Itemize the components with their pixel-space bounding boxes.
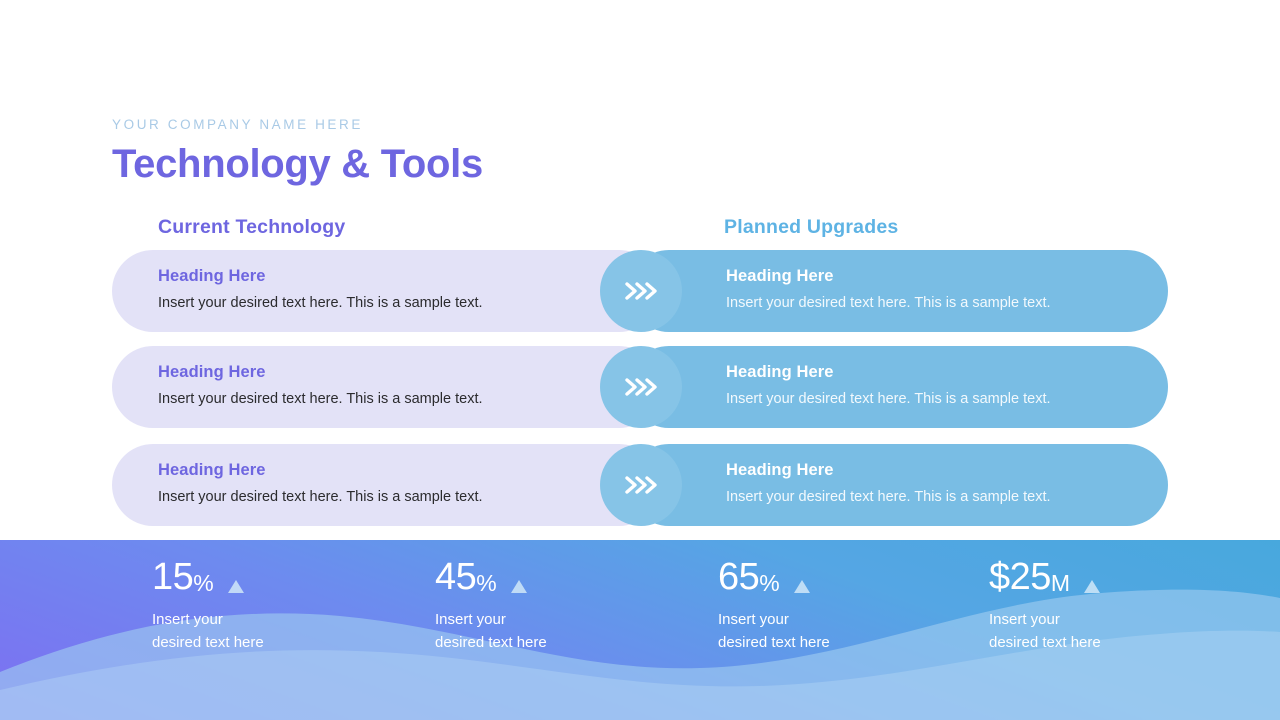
stat-description: Insert your desired text here xyxy=(435,609,547,655)
double-chevron-right-icon[interactable] xyxy=(600,444,682,526)
stat-description-line1: Insert your xyxy=(718,609,830,632)
stat-item: 45 % Insert your desired text here xyxy=(435,558,547,655)
stat-description-line2: desired text here xyxy=(718,632,830,655)
stat-description-line1: Insert your xyxy=(152,609,264,632)
current-technology-text: Heading Here Insert your desired text he… xyxy=(158,362,578,408)
stat-value-row: 15 % xyxy=(152,558,264,596)
up-triangle-icon xyxy=(794,580,810,593)
stat-item: $25 M Insert your desired text here xyxy=(989,558,1101,655)
stat-value-row: $25 M xyxy=(989,558,1101,596)
stat-value: 15 xyxy=(152,558,193,596)
stat-value-row: 65 % xyxy=(718,558,830,596)
row-heading: Heading Here xyxy=(158,460,578,481)
row-body: Insert your desired text here. This is a… xyxy=(158,294,578,312)
stat-value: $25 xyxy=(989,558,1051,596)
row-heading: Heading Here xyxy=(158,362,578,383)
stat-description: Insert your desired text here xyxy=(718,609,830,655)
stat-suffix: % xyxy=(476,572,496,596)
stat-description-line1: Insert your xyxy=(435,609,547,632)
planned-upgrade-text: Heading Here Insert your desired text he… xyxy=(726,266,1146,312)
row-body: Insert your desired text here. This is a… xyxy=(726,390,1146,408)
stat-value-row: 45 % xyxy=(435,558,547,596)
current-technology-text: Heading Here Insert your desired text he… xyxy=(158,460,578,506)
comparison-rows: Heading Here Insert your desired text he… xyxy=(0,0,1280,540)
footer-stats-band: 15 % Insert your desired text here 45 % … xyxy=(0,540,1280,720)
row-body: Insert your desired text here. This is a… xyxy=(726,294,1146,312)
up-triangle-icon xyxy=(228,580,244,593)
stat-description: Insert your desired text here xyxy=(989,609,1101,655)
planned-upgrade-text: Heading Here Insert your desired text he… xyxy=(726,362,1146,408)
stat-description-line2: desired text here xyxy=(989,632,1101,655)
row-body: Insert your desired text here. This is a… xyxy=(158,488,578,506)
row-heading: Heading Here xyxy=(726,460,1146,481)
stat-item: 15 % Insert your desired text here xyxy=(152,558,264,655)
row-heading: Heading Here xyxy=(726,266,1146,287)
up-triangle-icon xyxy=(1084,580,1100,593)
stats-row: 15 % Insert your desired text here 45 % … xyxy=(0,540,1280,720)
stat-suffix: % xyxy=(759,572,779,596)
current-technology-text: Heading Here Insert your desired text he… xyxy=(158,266,578,312)
row-body: Insert your desired text here. This is a… xyxy=(726,488,1146,506)
double-chevron-right-icon[interactable] xyxy=(600,346,682,428)
stat-value: 45 xyxy=(435,558,476,596)
double-chevron-right-icon[interactable] xyxy=(600,250,682,332)
stat-item: 65 % Insert your desired text here xyxy=(718,558,830,655)
planned-upgrade-text: Heading Here Insert your desired text he… xyxy=(726,460,1146,506)
comparison-row: Heading Here Insert your desired text he… xyxy=(0,444,1280,526)
comparison-row: Heading Here Insert your desired text he… xyxy=(0,346,1280,428)
row-body: Insert your desired text here. This is a… xyxy=(158,390,578,408)
stat-description: Insert your desired text here xyxy=(152,609,264,655)
stat-value: 65 xyxy=(718,558,759,596)
row-heading: Heading Here xyxy=(726,362,1146,383)
stat-description-line2: desired text here xyxy=(435,632,547,655)
row-heading: Heading Here xyxy=(158,266,578,287)
comparison-row: Heading Here Insert your desired text he… xyxy=(0,250,1280,332)
stat-suffix: M xyxy=(1051,572,1070,596)
stat-suffix: % xyxy=(193,572,213,596)
stat-description-line1: Insert your xyxy=(989,609,1101,632)
stat-description-line2: desired text here xyxy=(152,632,264,655)
up-triangle-icon xyxy=(511,580,527,593)
